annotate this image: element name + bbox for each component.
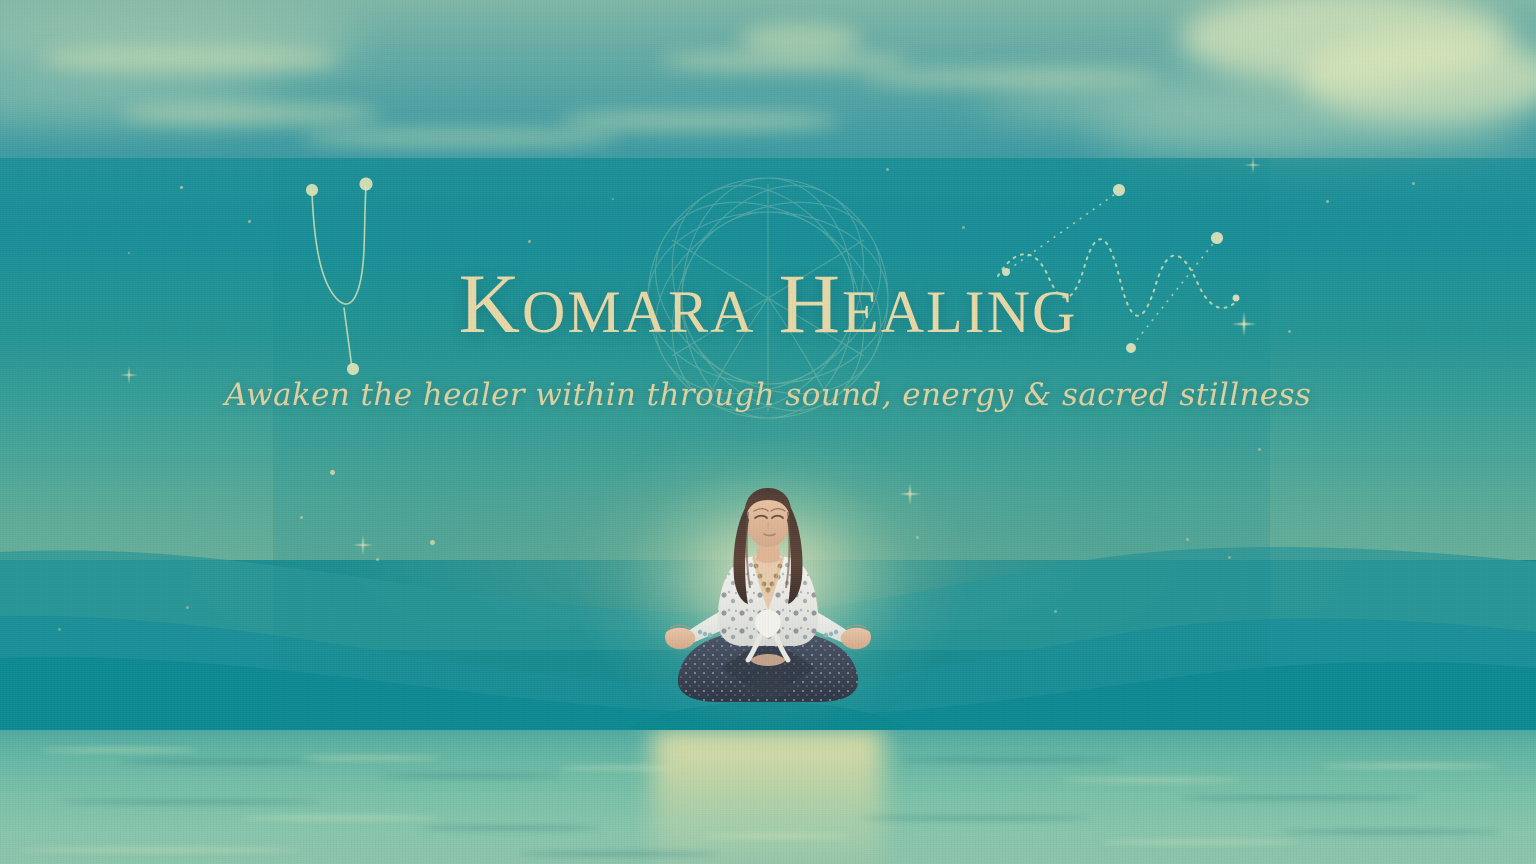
four-point-sparkle [348, 530, 378, 560]
tagline: Awaken the healer within through sound, … [0, 378, 1536, 412]
figure-illustration [648, 482, 888, 732]
hero-banner: Komara Healing Awaken the healer within … [0, 0, 1536, 864]
water-reflection [0, 730, 1536, 864]
meditating-figure [558, 440, 978, 740]
sun-reflection [653, 730, 883, 864]
four-point-sparkle [1240, 152, 1266, 178]
page-title: Komara Healing [0, 262, 1536, 347]
